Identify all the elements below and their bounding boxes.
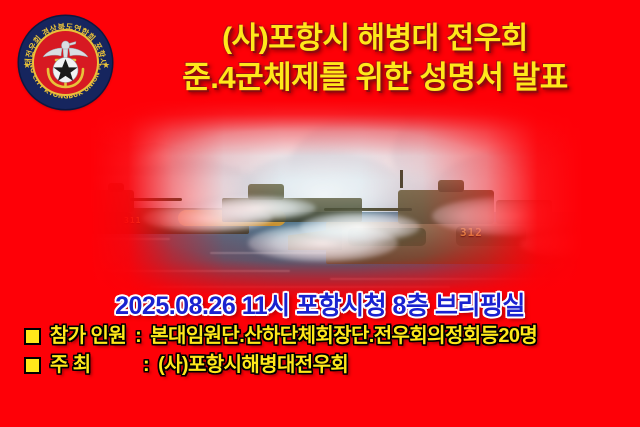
bow-wake: [300, 212, 420, 242]
title-line-2: 준.4군체제를 위한 성명서 발표: [120, 58, 630, 98]
vehicle-marking: 311: [124, 216, 141, 225]
detail-value: (사)포항시해병대전우회: [158, 351, 348, 380]
detail-value: 본대임원단.산하단체회장단.전우회의정회등20명: [150, 322, 537, 351]
checkbox-icon: [24, 357, 41, 374]
detail-separator: :: [135, 322, 141, 351]
event-details-list: 참가 인원 : 본대임원단.산하단체회장단.전우회의정회등20명 주 최 : (…: [24, 322, 638, 380]
page-title: (사)포항시 해병대 전우회 준.4군체제를 위한 성명서 발표: [120, 20, 630, 98]
checkbox-icon: [24, 328, 41, 345]
detail-row-host: 주 최 : (사)포항시해병대전우회: [24, 351, 638, 380]
amphibious-assault-vehicle-landing-photo: 311: [0, 100, 640, 300]
detail-label: 참가 인원: [50, 322, 126, 351]
bow-wake: [196, 196, 316, 220]
star-icon: [53, 58, 78, 83]
detail-separator: :: [143, 351, 149, 380]
title-line-1: (사)포항시 해병대 전우회: [120, 20, 630, 58]
marine-corps-veterans-emblem: 해병대전우회 경상북도연합회 포항시지회 POHANG CITY KYONGBU…: [19, 16, 112, 109]
bow-wake: [520, 230, 630, 258]
event-dateline: 2025.08.26 11시 포항시청 8층 브리핑실: [0, 286, 640, 322]
detail-label: 주 최: [50, 351, 134, 380]
detail-row-participants: 참가 인원 : 본대임원단.산하단체회장단.전우회의정회등20명: [24, 322, 638, 351]
event-announcement-poster: 311: [0, 0, 640, 427]
emblem-center: [32, 29, 99, 96]
